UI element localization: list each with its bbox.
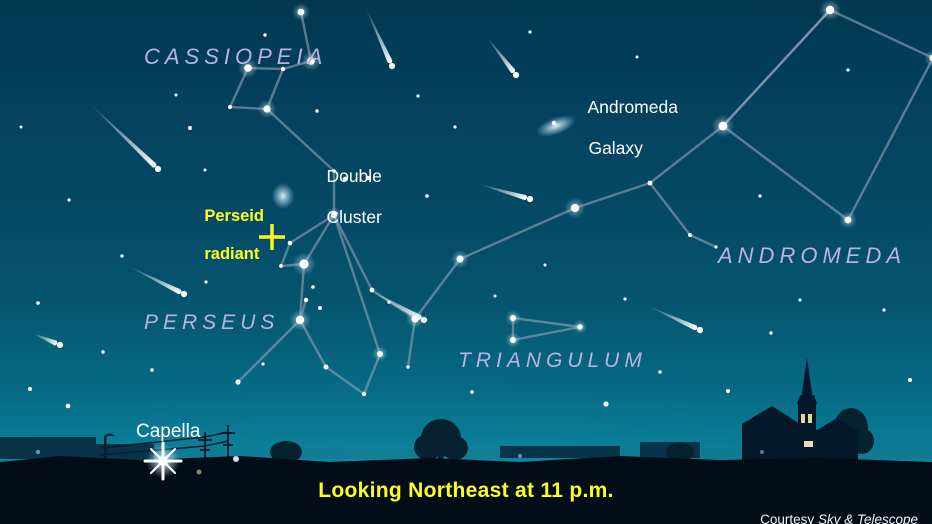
label-andromeda-galaxy: Andromeda Galaxy bbox=[569, 77, 678, 178]
double-cluster-line-1: Double bbox=[326, 166, 381, 186]
courtesy-prefix: Courtesy bbox=[760, 512, 818, 524]
label-double-cluster: Double Cluster bbox=[307, 146, 382, 247]
constellation-label-perseus: PERSEUS bbox=[144, 311, 279, 335]
perseid-radiant-line-2: radiant bbox=[204, 245, 259, 263]
constellation-label-triangulum: TRIANGULUM bbox=[458, 349, 647, 373]
andromeda-galaxy-line-2: Galaxy bbox=[588, 138, 642, 158]
sky-chart: CASSIOPEIA ANDROMEDA PERSEUS TRIANGULUM … bbox=[0, 0, 932, 524]
constellation-label-cassiopeia: CASSIOPEIA bbox=[144, 44, 327, 70]
perseid-radiant-line-1: Perseid bbox=[204, 207, 264, 225]
label-capella: Capella bbox=[136, 421, 200, 443]
andromeda-galaxy-line-1: Andromeda bbox=[587, 97, 677, 117]
capella-star bbox=[145, 443, 181, 479]
constellation-label-andromeda: ANDROMEDA bbox=[718, 243, 906, 269]
label-perseid-radiant: Perseid radiant bbox=[186, 188, 264, 284]
courtesy-source: Sky & Telescope bbox=[818, 512, 918, 524]
courtesy-credit: Courtesy Sky & Telescope bbox=[745, 496, 918, 524]
double-cluster-line-2: Cluster bbox=[326, 207, 381, 227]
